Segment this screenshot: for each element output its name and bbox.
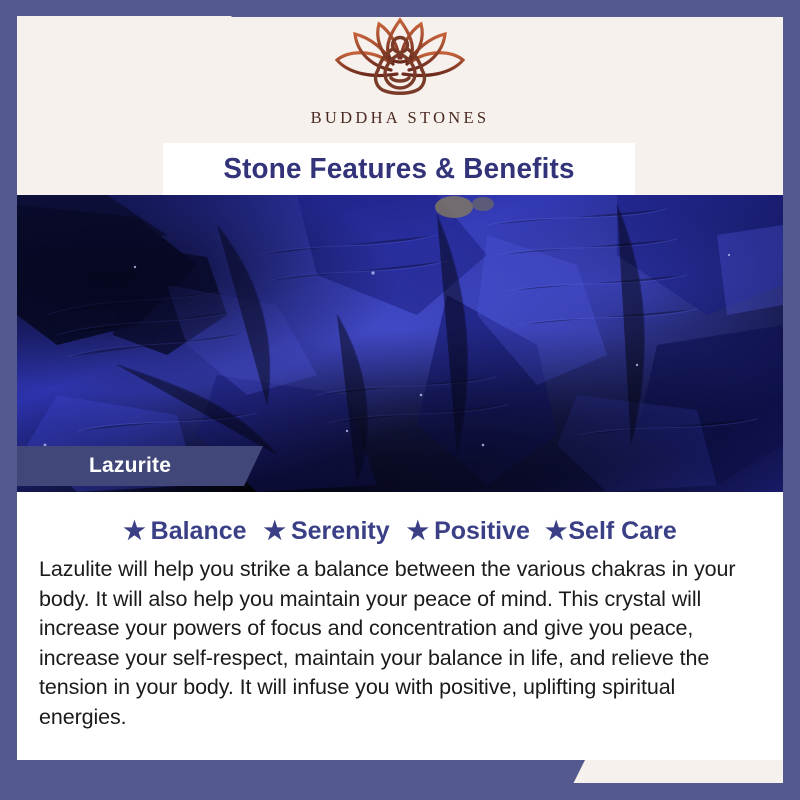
brand-logo: BUDDHA STONES	[0, 14, 800, 128]
benefit-label: Self Care	[568, 517, 676, 546]
benefit-item: ★ Serenity	[264, 517, 390, 546]
benefit-item: ★ Balance	[123, 517, 246, 546]
benefit-item: ★ Positive	[407, 517, 530, 546]
benefits-row: ★ Balance ★ Serenity ★ Positive ★ Self C…	[17, 517, 783, 546]
benefit-label: Serenity	[291, 517, 390, 546]
star-icon: ★	[264, 519, 286, 544]
content-card: ★ Balance ★ Serenity ★ Positive ★ Self C…	[17, 492, 783, 760]
page-title: Stone Features & Benefits	[223, 153, 574, 186]
brand-name: BUDDHA STONES	[311, 108, 490, 128]
star-icon: ★	[123, 519, 145, 544]
poster-card: BUDDHA STONES Stone Features & Benefits	[0, 0, 800, 800]
benefit-label: Positive	[434, 517, 530, 546]
star-icon: ★	[545, 519, 567, 544]
description-text: Lazulite will help you strike a balance …	[39, 555, 761, 732]
star-icon: ★	[407, 519, 429, 544]
benefit-label: Balance	[151, 517, 247, 546]
title-banner: Stone Features & Benefits	[163, 143, 635, 195]
stone-name-tag: Lazurite	[17, 446, 263, 486]
stone-name-label: Lazurite	[89, 454, 171, 478]
lotus-meditating-figure-icon	[315, 14, 485, 102]
benefit-item: ★ Self Care	[545, 517, 677, 546]
